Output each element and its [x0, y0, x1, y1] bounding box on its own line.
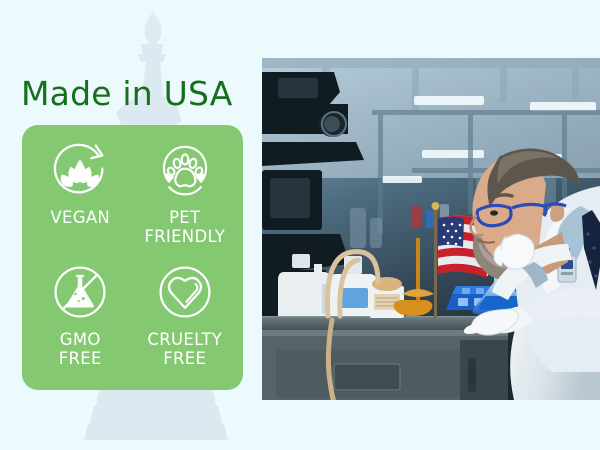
page-title: Made in USA — [21, 74, 233, 113]
badge-gmo-free: GMO FREE — [28, 259, 133, 381]
made-in-usa-banner: Made in USA VEGAN — [0, 0, 600, 450]
badge-cruelty-free: CRUELTY FREE — [133, 259, 238, 381]
badge-vegan: VEGAN — [28, 137, 133, 259]
lab-scientist-photo — [262, 58, 600, 400]
badge-label-cruelty-free: CRUELTY FREE — [147, 330, 222, 369]
badge-label-vegan: VEGAN — [50, 208, 110, 227]
left-column: Made in USA VEGAN — [0, 0, 258, 450]
no-flask-icon — [47, 259, 113, 325]
paw-print-icon — [152, 137, 218, 203]
heart-outline-icon — [152, 259, 218, 325]
vegan-leaves-icon — [47, 137, 113, 203]
badge-label-pet-friendly: PET FRIENDLY — [144, 208, 225, 247]
certification-badge-panel: VEGAN — [22, 125, 243, 390]
badge-label-gmo-free: GMO FREE — [59, 330, 102, 369]
badge-pet-friendly: PET FRIENDLY — [133, 137, 238, 259]
lab-scene-illustration — [262, 58, 600, 400]
